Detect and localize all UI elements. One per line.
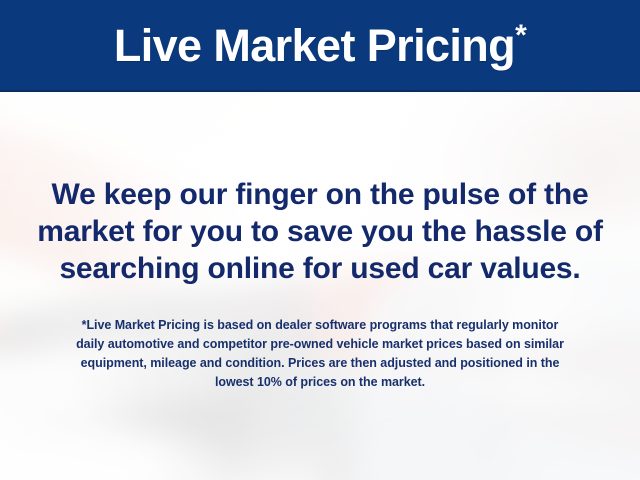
disclaimer-line: lowest 10% of prices on the market. [20,373,620,392]
marketing-copy-line: market for you to save you the hassle of [0,213,640,250]
header-band: Live Market Pricing* [0,0,640,92]
marketing-copy-line: searching online for used car values. [0,250,640,287]
disclaimer-line: daily automotive and competitor pre-owne… [20,335,620,354]
page-title-text: Live Market Pricing [114,20,515,71]
page-title: Live Market Pricing* [114,23,526,68]
disclaimer-text: *Live Market Pricing is based on dealer … [20,316,620,392]
disclaimer-line: *Live Market Pricing is based on dealer … [20,316,620,335]
page-title-asterisk: * [515,19,526,52]
marketing-copy: We keep our finger on the pulse of the m… [0,176,640,287]
marketing-copy-line: We keep our finger on the pulse of the [0,176,640,213]
background-white-streak-3 [0,442,320,480]
disclaimer-line: equipment, mileage and condition. Prices… [20,354,620,373]
live-market-pricing-banner: Live Market Pricing* We keep our finger … [0,0,640,480]
